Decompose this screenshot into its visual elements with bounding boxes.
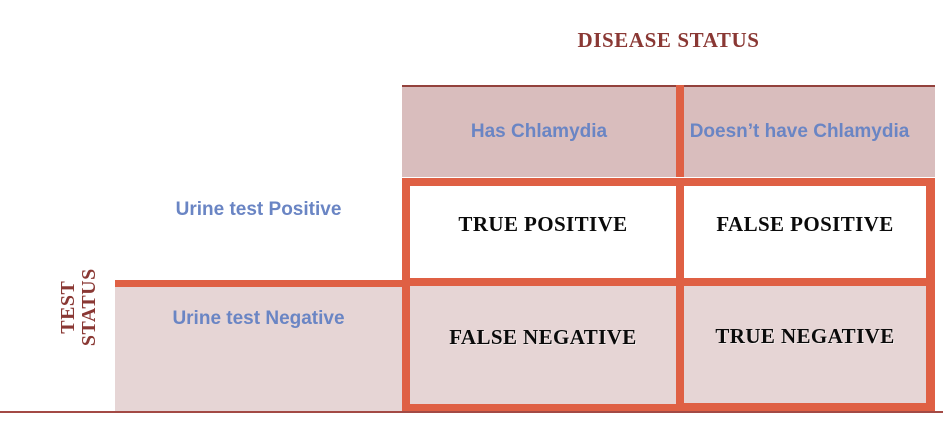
column-header-has-chlamydia: Has Chlamydia — [402, 87, 676, 177]
test-status-axis-title-line-2: STATUS — [79, 242, 100, 372]
test-status-axis-title-line-1: TEST — [58, 242, 79, 372]
cell-true-positive: TRUE POSITIVE — [402, 178, 684, 286]
row-label-urine-test-positive: Urine test Positive — [115, 178, 402, 282]
cell-false-positive: FALSE POSITIVE — [684, 178, 935, 286]
column-header-band: Has Chlamydia Doesn’t have Chlamydia — [402, 85, 935, 177]
row-split-rule — [115, 280, 410, 287]
cell-false-negative: FALSE NEGATIVE — [402, 286, 684, 412]
test-status-axis-title: TEST STATUS — [58, 242, 100, 372]
column-header-doesnt-have-chlamydia: Doesn’t have Chlamydia — [676, 87, 935, 177]
cell-true-negative: TRUE NEGATIVE — [684, 286, 935, 412]
disease-status-axis-title: DISEASE STATUS — [402, 28, 935, 53]
confusion-matrix-figure: DISEASE STATUS TEST STATUS Has Chlamydia… — [0, 0, 943, 441]
row-label-urine-test-negative: Urine test Negative — [115, 286, 402, 412]
figure-baseline — [0, 411, 943, 413]
column-header-divider — [676, 85, 684, 177]
